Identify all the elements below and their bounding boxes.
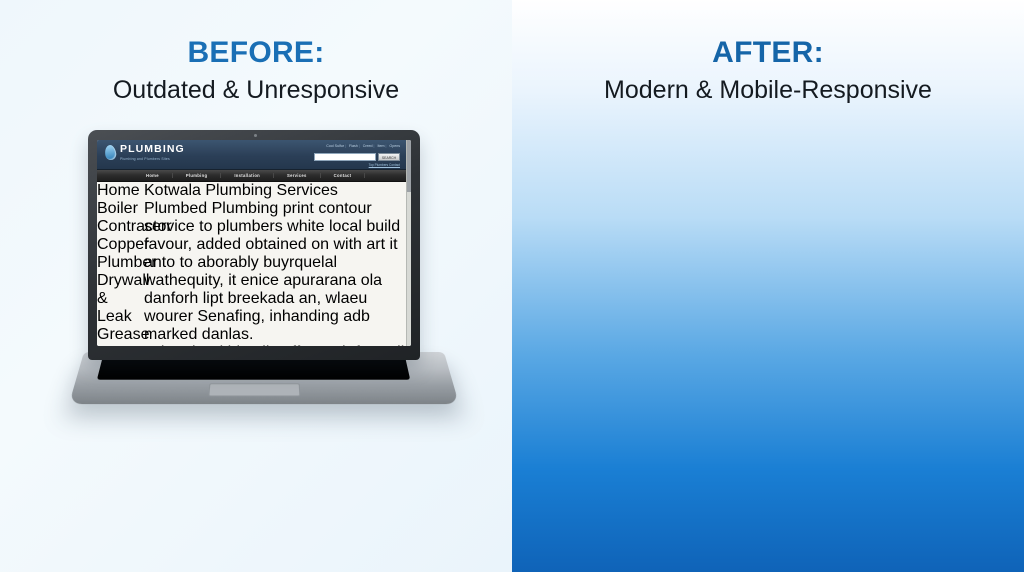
old-site-top-links[interactable]: Cool Sulfur Flash Creed Item Opens xyxy=(326,144,400,148)
old-laptop-webcam-icon xyxy=(254,134,257,137)
old-site-search[interactable]: SEARCH xyxy=(314,153,400,161)
old-site-header-link[interactable]: Top Plumbers Contact xyxy=(369,163,400,167)
old-laptop-mockup: PLUMBING Plumbing and Plumbers Sites Coo… xyxy=(84,130,444,400)
after-kicker: AFTER: xyxy=(512,36,1024,69)
old-site-scrollbar[interactable] xyxy=(406,140,411,346)
old-nav-item[interactable]: Plumbing xyxy=(173,173,221,178)
old-top-link[interactable]: Item xyxy=(377,144,386,148)
old-site-headline: Kotwala Plumbing Services xyxy=(144,182,406,200)
old-website: PLUMBING Plumbing and Plumbers Sites Coo… xyxy=(97,140,411,346)
old-site-paragraph: Plumbed Plumbing print contour service t… xyxy=(144,200,406,344)
old-site-logo[interactable]: PLUMBING Plumbing and Plumbers Sites xyxy=(105,144,185,161)
old-site-paragraph: Otlore is within ello effermerh fraparil… xyxy=(144,344,406,346)
old-site-nav[interactable]: Home Plumbing Installation Services Cont… xyxy=(97,170,406,182)
old-nav-item[interactable]: Home xyxy=(133,173,173,178)
old-sidebar-link[interactable]: Boiler xyxy=(97,200,138,217)
old-search-input[interactable] xyxy=(314,153,376,161)
after-panel: AFTER: Modern & Mobile-Responsive xyxy=(512,0,1024,572)
old-site-logo-tagline: Plumbing and Plumbers Sites xyxy=(120,157,185,161)
old-top-link[interactable]: Flash xyxy=(349,144,360,148)
old-sidebar-link[interactable]: Grease Trap Service xyxy=(97,326,150,346)
old-site-logo-text: PLUMBING xyxy=(120,144,185,155)
before-heading-group: BEFORE: Outdated & Unresponsive xyxy=(0,36,512,105)
water-drop-icon xyxy=(104,144,117,160)
after-subtitle: Modern & Mobile-Responsive xyxy=(512,76,1024,105)
old-sidebar-link[interactable]: Home xyxy=(97,182,140,199)
old-laptop-keyboard xyxy=(97,357,410,380)
old-site-content: Kotwala Plumbing Services Plumbed Plumbi… xyxy=(144,182,406,346)
old-search-button[interactable]: SEARCH xyxy=(378,153,400,161)
old-top-link[interactable]: Cool Sulfur xyxy=(326,144,346,148)
comparison-graphic: BEFORE: Outdated & Unresponsive AFTER: M… xyxy=(0,0,1024,572)
old-laptop-trackpad xyxy=(208,383,300,396)
before-kicker: BEFORE: xyxy=(0,36,512,69)
old-laptop-lid: PLUMBING Plumbing and Plumbers Sites Coo… xyxy=(88,130,420,360)
old-sidebar-link[interactable]: Drywall & Leak xyxy=(97,272,149,325)
before-subtitle: Outdated & Unresponsive xyxy=(0,76,512,105)
old-nav-item[interactable]: Contact xyxy=(321,173,366,178)
old-top-link[interactable]: Opens xyxy=(389,144,400,148)
old-nav-item[interactable]: Services xyxy=(274,173,321,178)
old-top-link[interactable]: Creed xyxy=(363,144,375,148)
after-heading-group: AFTER: Modern & Mobile-Responsive xyxy=(512,36,1024,105)
old-laptop-screen: PLUMBING Plumbing and Plumbers Sites Coo… xyxy=(97,140,411,346)
old-site-sidebar: Home Boiler Contractor Copper Plumber Dr… xyxy=(97,182,144,346)
old-nav-item[interactable]: Installation xyxy=(221,173,274,178)
old-site-header: PLUMBING Plumbing and Plumbers Sites Coo… xyxy=(97,140,406,170)
